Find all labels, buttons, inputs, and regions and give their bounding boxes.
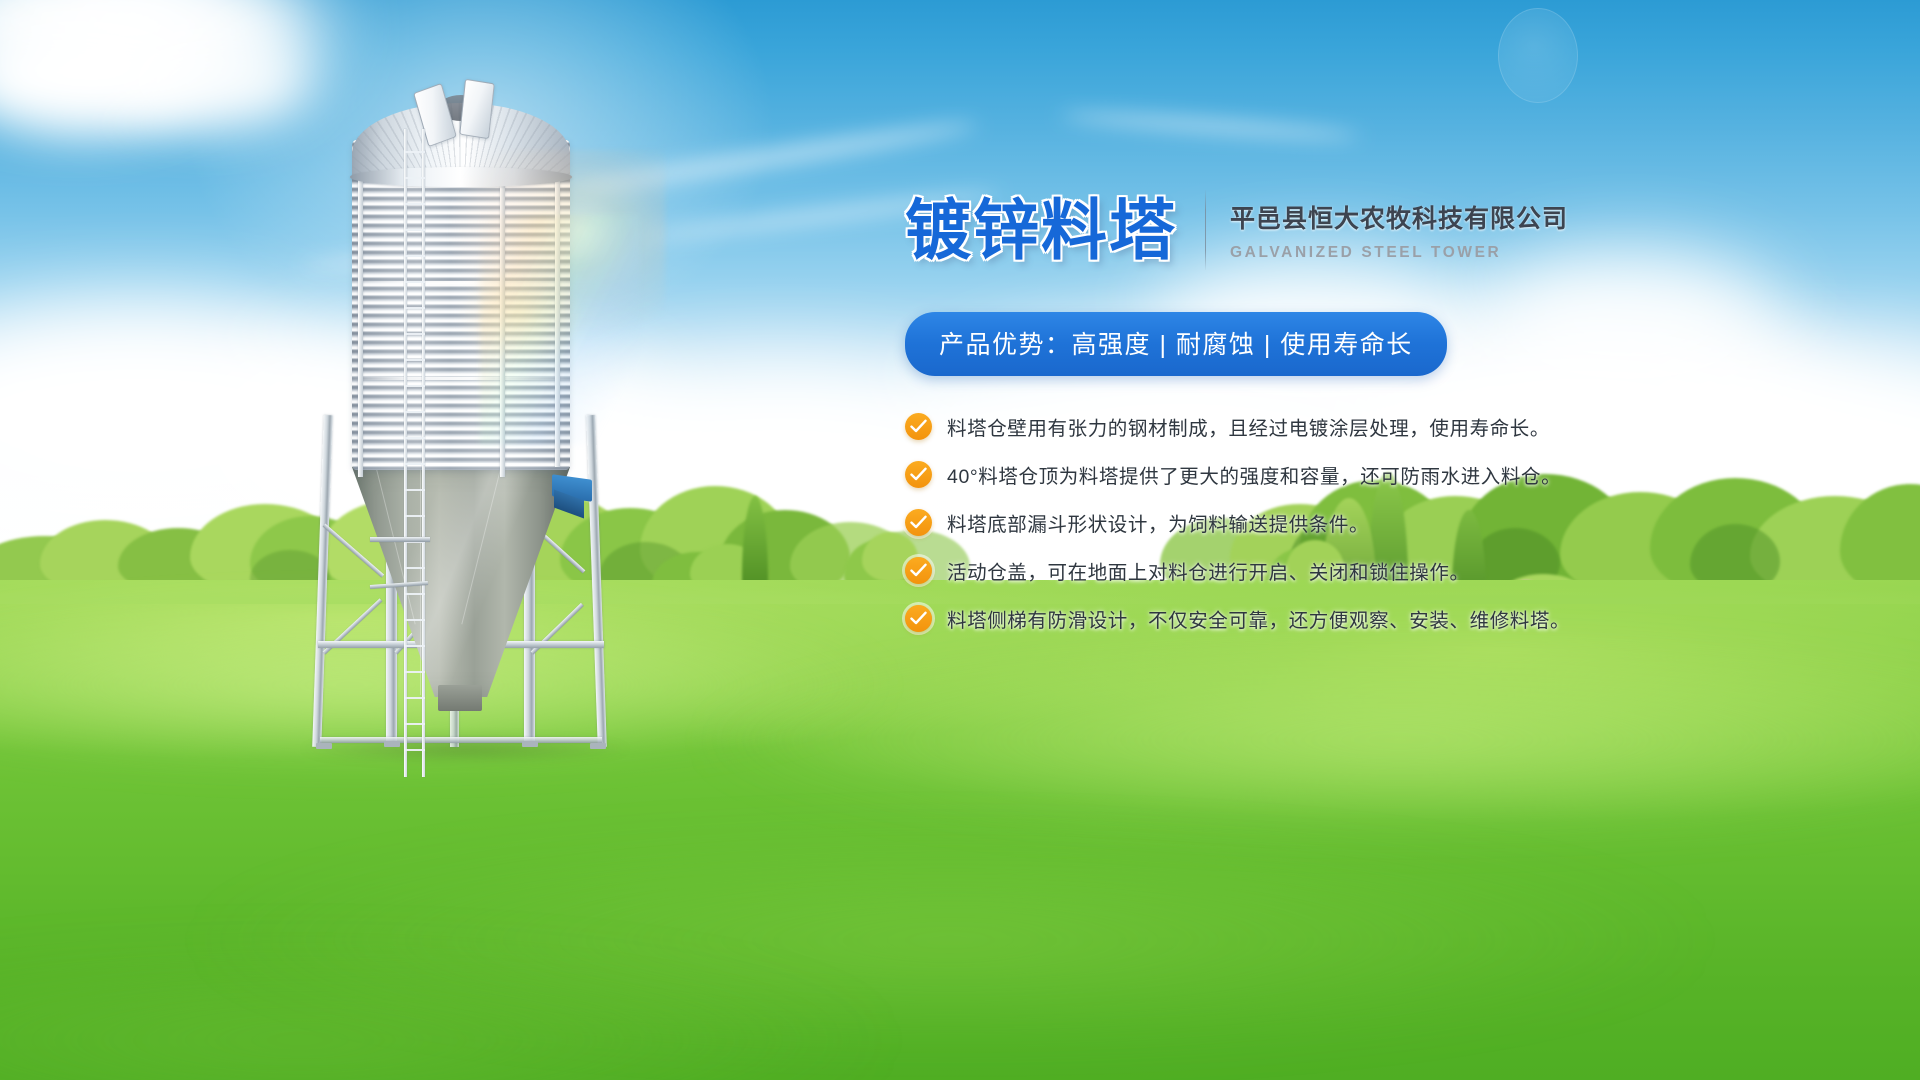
check-circle-icon [905, 413, 932, 440]
silo-side-ladder [404, 129, 426, 777]
check-circle-icon [905, 557, 932, 584]
grass-field [0, 580, 1920, 1080]
title-row: 镀锌料塔 平邑县恒大农牧科技有限公司 GALVANIZED STEEL TOWE… [905, 190, 1625, 270]
list-item-label: 料塔仓壁用有张力的钢材制成，且经过电镀涂层处理，使用寿命长。 [947, 412, 1550, 441]
list-item: 料塔侧梯有防滑设计，不仅安全可靠，还方便观察、安装、维修料塔。 [905, 604, 1625, 633]
text-panel: 镀锌料塔 平邑县恒大农牧科技有限公司 GALVANIZED STEEL TOWE… [905, 190, 1625, 652]
company-block: 平邑县恒大农牧科技有限公司 GALVANIZED STEEL TOWER [1230, 199, 1568, 262]
list-item-label: 料塔底部漏斗形状设计，为饲料输送提供条件。 [947, 508, 1369, 537]
silo-barrel [352, 140, 570, 470]
company-name-en: GALVANIZED STEEL TOWER [1230, 244, 1568, 262]
feature-list: 料塔仓壁用有张力的钢材制成，且经过电镀涂层处理，使用寿命长。 40°料塔仓顶为料… [905, 412, 1625, 633]
list-item: 料塔底部漏斗形状设计，为饲料输送提供条件。 [905, 508, 1625, 537]
check-circle-icon [905, 605, 932, 632]
silo-lid-flap [459, 79, 495, 139]
silo-stiffener [500, 137, 505, 477]
silo-stiffener [358, 137, 363, 477]
silo-stiffener [555, 137, 560, 467]
company-name-cn: 平邑县恒大农牧科技有限公司 [1230, 199, 1568, 235]
check-circle-icon [905, 509, 932, 536]
page-title: 镀锌料塔 [905, 197, 1177, 263]
list-item: 40°料塔仓顶为料塔提供了更大的强度和容量，还可防雨水进入料仓。 [905, 460, 1625, 489]
list-item: 活动仓盖，可在地面上对料仓进行开启、关闭和锁住操作。 [905, 556, 1625, 585]
sun-disc-decoration [1498, 8, 1578, 103]
check-circle-icon [905, 461, 932, 488]
list-item-label: 料塔侧梯有防滑设计，不仅安全可靠，还方便观察、安装、维修料塔。 [947, 604, 1570, 633]
silo-discharge-outlet [438, 685, 482, 711]
promo-banner: 平邑恒大农牧科技有限公司 400-850-8818 [0, 0, 1920, 1080]
advantages-pill: 产品优势：高强度 | 耐腐蚀 | 使用寿命长 [905, 312, 1447, 376]
list-item-label: 活动仓盖，可在地面上对料仓进行开启、关闭和锁住操作。 [947, 556, 1470, 585]
feed-silo-image: 平邑恒大农牧科技有限公司 400-850-8818 [300, 85, 620, 745]
title-divider [1205, 190, 1206, 270]
list-item: 料塔仓壁用有张力的钢材制成，且经过电镀涂层处理，使用寿命长。 [905, 412, 1625, 441]
list-item-label: 40°料塔仓顶为料塔提供了更大的强度和容量，还可防雨水进入料仓。 [947, 460, 1561, 489]
